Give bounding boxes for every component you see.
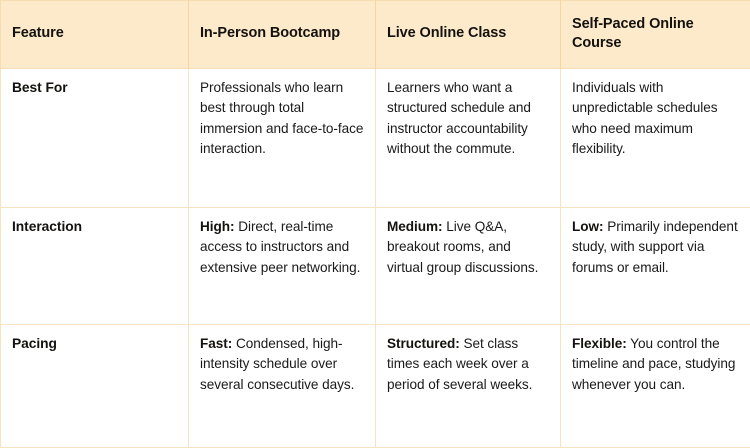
comparison-table-container: Feature In-Person Bootcamp Live Online C… xyxy=(0,0,750,422)
cell-best-for-in-person: Professionals who learn best through tot… xyxy=(189,69,376,208)
row-label-pacing: Pacing xyxy=(1,325,189,448)
column-header-live-online-class: Live Online Class xyxy=(376,1,561,69)
table-row: Interaction High: Direct, real-time acce… xyxy=(1,208,750,325)
column-header-self-paced-online-course: Self-Paced Online Course xyxy=(561,1,750,69)
table-body: Best For Professionals who learn best th… xyxy=(1,69,750,448)
cell-interaction-in-person: High: Direct, real-time access to instru… xyxy=(189,208,376,325)
cell-body-text: Learners who want a structured schedule … xyxy=(387,80,531,156)
cell-lead-term: Flexible: xyxy=(572,336,627,351)
cell-best-for-self-paced: Individuals with unpredictable schedules… xyxy=(561,69,750,208)
row-label-best-for: Best For xyxy=(1,69,189,208)
cell-body-text: Professionals who learn best through tot… xyxy=(200,80,363,156)
cell-lead-term: Fast: xyxy=(200,336,232,351)
cell-lead-term: Structured: xyxy=(387,336,460,351)
cell-lead-term: Low: xyxy=(572,219,604,234)
cell-interaction-self-paced: Low: Primarily independent study, with s… xyxy=(561,208,750,325)
cell-best-for-live-online: Learners who want a structured schedule … xyxy=(376,69,561,208)
cell-pacing-self-paced: Flexible: You control the timeline and p… xyxy=(561,325,750,448)
table-header-row: Feature In-Person Bootcamp Live Online C… xyxy=(1,1,750,69)
cell-lead-term: High: xyxy=(200,219,234,234)
cell-pacing-live-online: Structured: Set class times each week ov… xyxy=(376,325,561,448)
row-label-interaction: Interaction xyxy=(1,208,189,325)
course-format-comparison-table: Feature In-Person Bootcamp Live Online C… xyxy=(0,0,750,448)
table-header: Feature In-Person Bootcamp Live Online C… xyxy=(1,1,750,69)
cell-body-text: Individuals with unpredictable schedules… xyxy=(572,80,717,156)
cell-interaction-live-online: Medium: Live Q&A, breakout rooms, and vi… xyxy=(376,208,561,325)
table-row: Best For Professionals who learn best th… xyxy=(1,69,750,208)
column-header-in-person-bootcamp: In-Person Bootcamp xyxy=(189,1,376,69)
table-row: Pacing Fast: Condensed, high-intensity s… xyxy=(1,325,750,448)
column-header-feature: Feature xyxy=(1,1,189,69)
cell-lead-term: Medium: xyxy=(387,219,443,234)
cell-pacing-in-person: Fast: Condensed, high-intensity schedule… xyxy=(189,325,376,448)
